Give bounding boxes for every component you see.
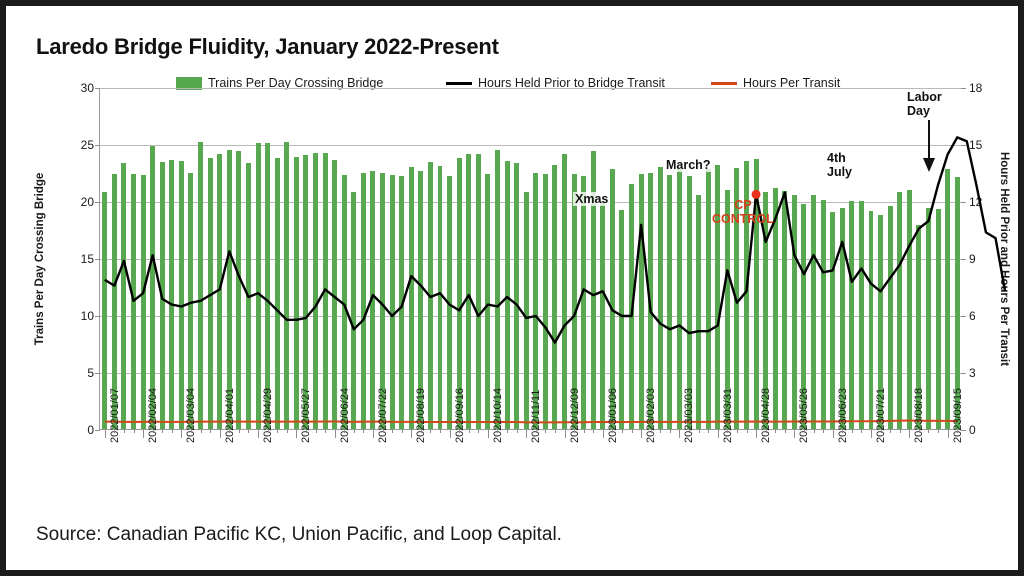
x-tick: [277, 429, 278, 433]
x-tick: [402, 429, 403, 433]
legend-swatch-line-icon: [711, 82, 737, 85]
x-tick: [258, 429, 259, 438]
x-tick: [354, 429, 355, 433]
x-tick: [287, 429, 288, 433]
y-tick-label-right: 18: [969, 81, 982, 95]
x-tick: [766, 429, 767, 433]
x-tick: [804, 429, 805, 433]
annotation-fourth-july: 4thJuly: [825, 151, 854, 179]
x-tick: [632, 429, 633, 433]
x-tick-label: 2023/01/06: [607, 388, 619, 443]
x-tick: [708, 429, 709, 433]
x-tick-label: 2022/02/04: [147, 388, 159, 443]
x-tick: [660, 429, 661, 433]
y-tick-label-left: 5: [87, 366, 94, 380]
x-tick: [363, 429, 364, 433]
x-tick: [881, 429, 882, 433]
x-tick: [948, 429, 949, 438]
y-axis-left-title: Trains Per Day Crossing Bridge: [34, 173, 46, 346]
y-tick-label-right: 0: [969, 423, 976, 437]
x-tick: [603, 429, 604, 438]
x-tick: [593, 429, 594, 433]
x-tick: [727, 429, 728, 433]
x-tick: [833, 429, 834, 438]
annotation-line: Labor: [907, 90, 942, 104]
x-tick: [928, 429, 929, 433]
x-tick: [641, 429, 642, 438]
x-tick: [162, 429, 163, 433]
x-tick-label: 2022/12/09: [569, 388, 581, 443]
y-tick-label-left: 30: [81, 81, 94, 95]
y-tick-label-left: 15: [81, 252, 94, 266]
x-tick: [296, 429, 297, 438]
x-tick: [181, 429, 182, 438]
y-tick-label-right: 15: [969, 138, 982, 152]
line-series-layer: [100, 88, 962, 430]
x-tick-label: 2022/08/19: [415, 388, 427, 443]
x-tick: [565, 429, 566, 438]
x-tick: [201, 429, 202, 433]
x-tick: [517, 429, 518, 433]
x-tick: [306, 429, 307, 433]
x-tick: [411, 429, 412, 438]
x-tick: [584, 429, 585, 433]
annotation-labor-day: LaborDay: [905, 90, 944, 118]
x-tick: [239, 429, 240, 433]
annotation-xmas: Xmas: [573, 192, 610, 206]
x-tick: [124, 429, 125, 433]
x-tick: [861, 429, 862, 433]
x-tick: [191, 429, 192, 433]
x-tick-label: 2023/07/21: [875, 388, 887, 443]
x-tick: [555, 429, 556, 433]
x-tick: [526, 429, 527, 438]
x-tick-label: 2023/05/26: [798, 388, 810, 443]
x-tick: [143, 429, 144, 438]
x-tick: [670, 429, 671, 433]
x-tick: [268, 429, 269, 433]
x-tick: [450, 429, 451, 438]
annotation-march: March?: [664, 158, 712, 172]
x-tick: [574, 429, 575, 433]
x-tick: [488, 429, 489, 438]
x-tick-label: 2022/04/01: [224, 388, 236, 443]
y-tick-label-right: 3: [969, 366, 976, 380]
x-tick: [172, 429, 173, 433]
x-tick: [622, 429, 623, 433]
x-tick: [718, 429, 719, 438]
x-tick: [210, 429, 211, 433]
x-tick: [737, 429, 738, 433]
x-tick: [316, 429, 317, 433]
annotation-line: CP: [712, 198, 774, 212]
x-tick: [900, 429, 901, 433]
x-tick: [421, 429, 422, 433]
x-tick: [871, 429, 872, 438]
x-tick: [497, 429, 498, 433]
x-tick: [507, 429, 508, 433]
y-tick-label-left: 20: [81, 195, 94, 209]
x-tick: [335, 429, 336, 438]
chart-container: Trains Per Day Crossing BridgeHours Held…: [6, 76, 1018, 516]
x-tick: [134, 429, 135, 433]
x-tick: [373, 429, 374, 438]
x-tick: [814, 429, 815, 433]
x-tick: [747, 429, 748, 433]
x-tick-label: 2023/06/23: [837, 388, 849, 443]
x-tick: [105, 429, 106, 438]
x-tick: [957, 429, 958, 433]
y-tick-left: [95, 430, 100, 431]
x-tick: [430, 429, 431, 433]
x-tick: [392, 429, 393, 433]
annotation-line: Day: [907, 104, 942, 118]
annotation-arrow-icon: [921, 120, 941, 176]
y-tick-label-right: 9: [969, 252, 976, 266]
x-tick-label: 2022/11/11: [530, 390, 542, 443]
x-tick: [612, 429, 613, 433]
x-tick: [478, 429, 479, 433]
x-tick: [344, 429, 345, 433]
x-tick: [919, 429, 920, 433]
x-tick: [909, 429, 910, 438]
x-tick-label: 2023/04/28: [760, 388, 772, 443]
x-tick: [325, 429, 326, 433]
x-tick: [689, 429, 690, 433]
source-caption: Source: Canadian Pacific KC, Union Pacif…: [36, 524, 562, 546]
annotation-line: Xmas: [575, 192, 608, 206]
annotation-line: March?: [666, 158, 710, 172]
x-tick-label: 2022/07/22: [377, 388, 389, 443]
x-tick-label: 2023/03/03: [683, 388, 695, 443]
slide-canvas: Laredo Bridge Fluidity, January 2022-Pre…: [0, 0, 1024, 576]
x-tick-label: 2022/03/04: [185, 388, 197, 443]
x-tick: [651, 429, 652, 433]
page-title: Laredo Bridge Fluidity, January 2022-Pre…: [36, 34, 499, 60]
x-tick-label: 2023/02/03: [645, 388, 657, 443]
x-tick: [153, 429, 154, 433]
x-tick: [699, 429, 700, 433]
x-tick-label: 2023/03/31: [722, 388, 734, 443]
x-tick: [248, 429, 249, 433]
x-tick: [383, 429, 384, 433]
y-tick-label-left: 0: [87, 423, 94, 437]
annotation-line: 4th: [827, 151, 852, 165]
annotation-line: CONTROL: [712, 212, 774, 226]
x-tick-label: 2022/09/16: [454, 388, 466, 443]
y-tick-label-right: 6: [969, 309, 976, 323]
x-tick: [114, 429, 115, 433]
line-hours-held: [105, 137, 1005, 342]
x-tick-label: 2022/04/29: [262, 388, 274, 443]
legend-swatch-line-icon: [446, 82, 472, 85]
x-tick: [536, 429, 537, 433]
x-tick-label: 2022/06/24: [339, 388, 351, 443]
x-tick: [852, 429, 853, 433]
x-tick: [545, 429, 546, 433]
x-tick-label: 2022/01/07: [109, 388, 121, 443]
annotation-line: July: [827, 165, 852, 179]
x-tick: [794, 429, 795, 438]
x-tick: [938, 429, 939, 433]
y-tick-label-left: 10: [81, 309, 94, 323]
x-tick: [220, 429, 221, 438]
x-tick-label: 2023/09/15: [952, 388, 964, 443]
x-tick: [775, 429, 776, 433]
x-tick: [890, 429, 891, 433]
x-tick-label: 2023/08/18: [913, 388, 925, 443]
x-tick: [823, 429, 824, 433]
x-tick: [440, 429, 441, 433]
x-tick-label: 2022/05/27: [300, 388, 312, 443]
plot-area: 051015202530 0369121518 2022/01/072022/0…: [99, 88, 961, 430]
x-tick: [756, 429, 757, 438]
x-tick: [229, 429, 230, 433]
x-tick: [679, 429, 680, 438]
x-tick: [459, 429, 460, 433]
x-tick: [469, 429, 470, 433]
x-tick: [785, 429, 786, 433]
annotation-cp-control: CPCONTROL: [710, 198, 776, 226]
y-tick-label-left: 25: [81, 138, 94, 152]
x-tick: [842, 429, 843, 433]
x-tick-label: 2022/10/14: [492, 388, 504, 443]
